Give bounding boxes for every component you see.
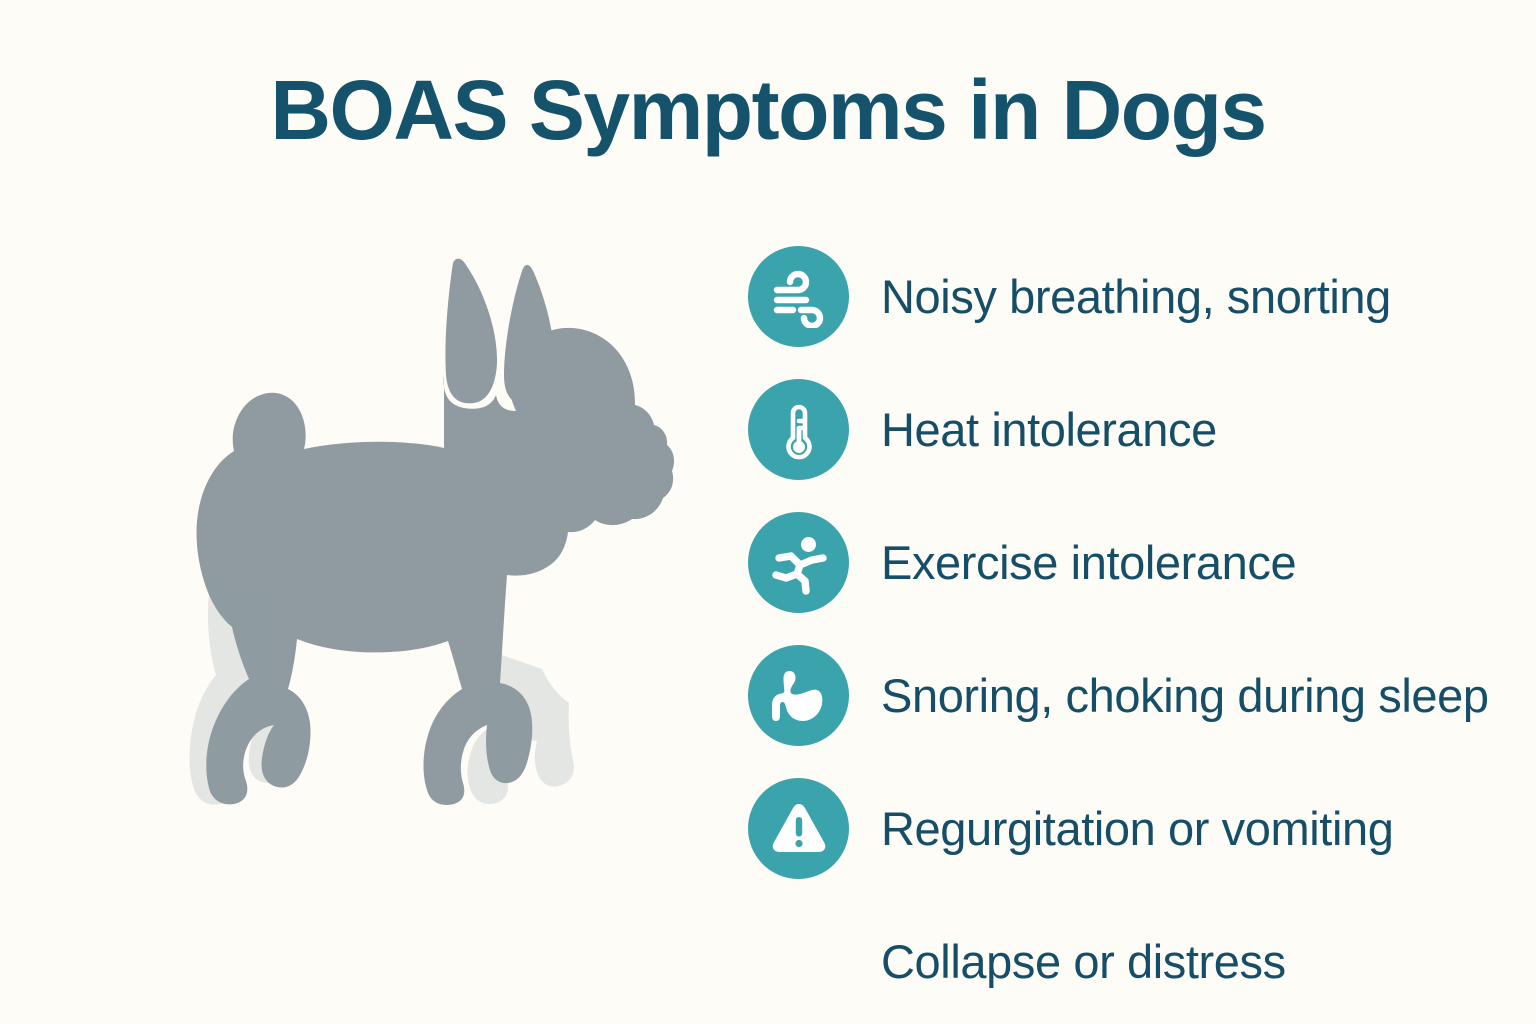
symptom-list: Noisy breathing, snorting Heat intoleran… — [748, 246, 1528, 1012]
running-person-icon — [748, 512, 849, 613]
boas-symptoms-infographic: BOAS Symptoms in Dogs — [0, 0, 1536, 1024]
symptom-label: Heat intolerance — [881, 406, 1217, 453]
dog-silhouette-svg — [92, 255, 692, 815]
no-icon-placeholder — [748, 911, 849, 1012]
symptom-label: Collapse or distress — [881, 938, 1286, 985]
wind-icon — [748, 246, 849, 347]
symptom-label: Snoring, choking during sleep — [881, 672, 1489, 719]
list-item: Exercise intolerance — [748, 512, 1528, 613]
stomach-icon — [748, 645, 849, 746]
warning-triangle-icon — [748, 778, 849, 879]
symptom-label: Exercise intolerance — [881, 539, 1296, 586]
list-item: Regurgitation or vomiting — [748, 778, 1528, 879]
page-title: BOAS Symptoms in Dogs — [0, 66, 1536, 154]
symptom-label: Regurgitation or vomiting — [881, 805, 1394, 852]
list-item: Heat intolerance — [748, 379, 1528, 480]
list-item: Snoring, choking during sleep — [748, 645, 1528, 746]
list-item: Noisy breathing, snorting — [748, 246, 1528, 347]
list-item: Collapse or distress — [748, 911, 1528, 1012]
thermometer-icon — [748, 379, 849, 480]
french-bulldog-silhouette — [92, 255, 692, 815]
symptom-label: Noisy breathing, snorting — [881, 273, 1391, 320]
